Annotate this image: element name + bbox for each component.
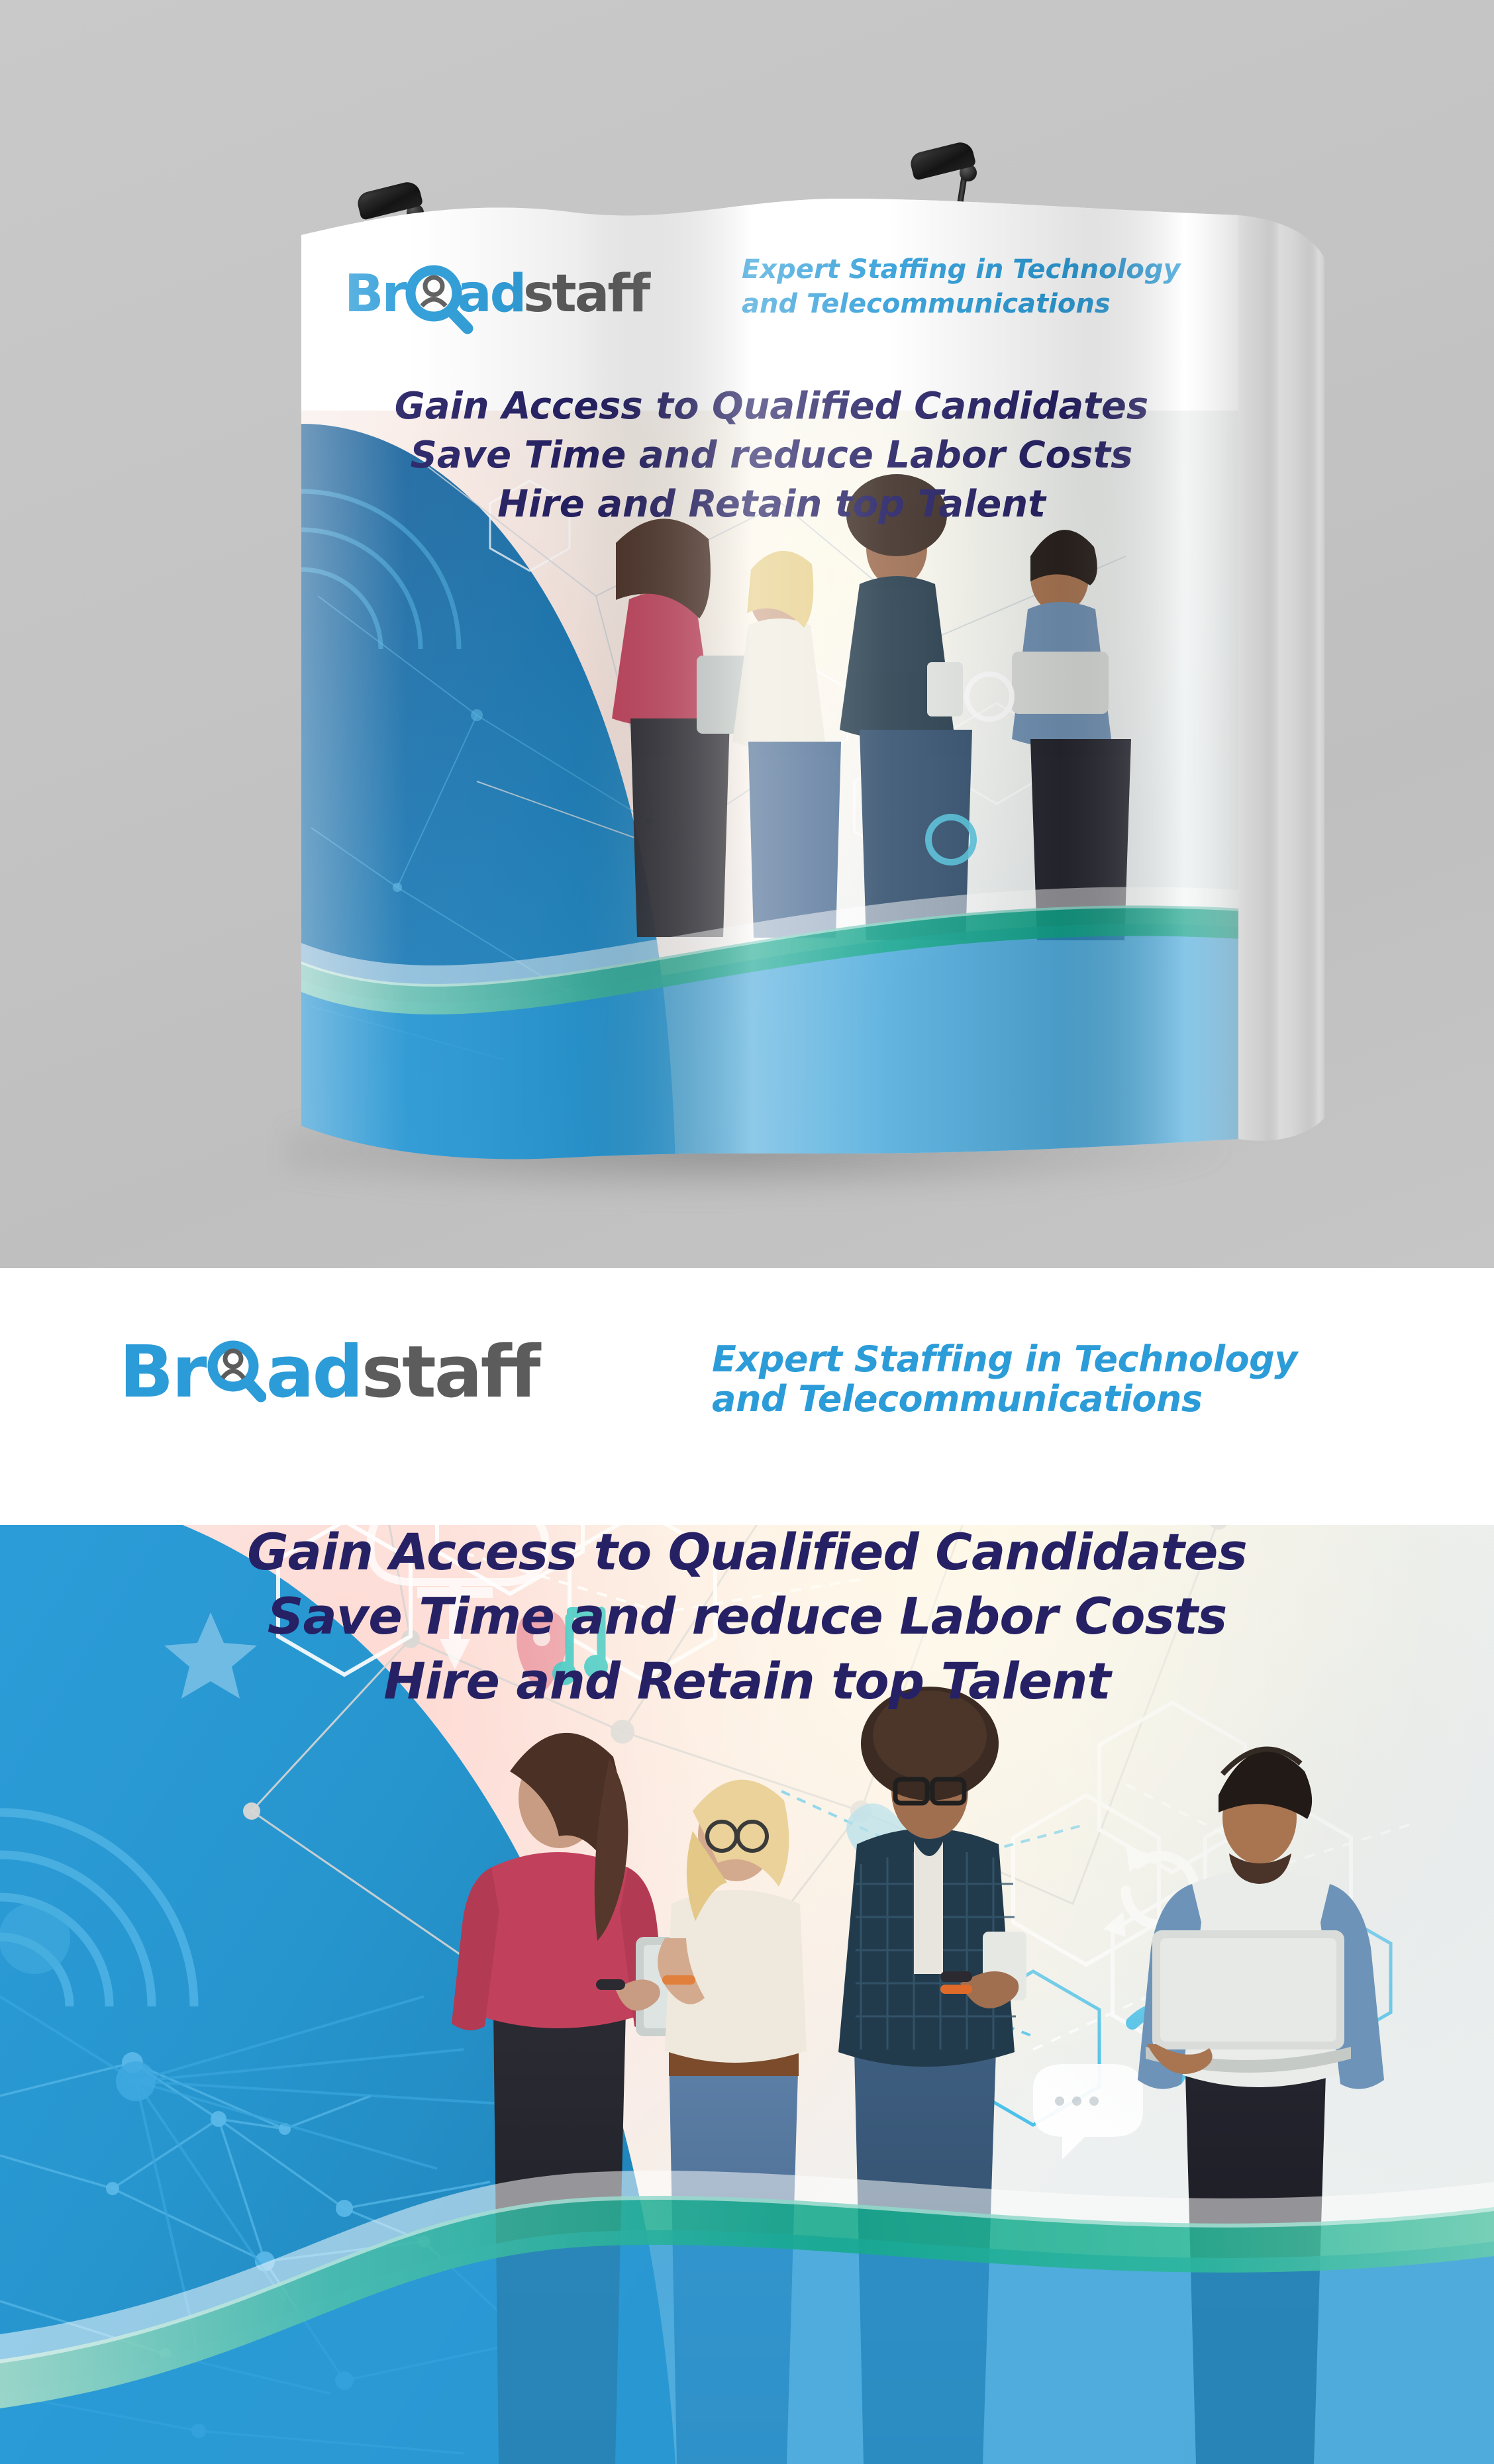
poster-page: Br ad staff Expert Staffing in Technolog…	[0, 0, 1494, 2464]
booth-mockup-scene: Br ad staff Expert Staffing in Technolog…	[0, 0, 1494, 1268]
booth-panel: Br ad staff Expert Staffing in Technolog…	[0, 0, 1494, 1268]
bottom-wave-band	[0, 1268, 1494, 2464]
flat-artwork: Br ad staff Expert Staffing in Technolog…	[0, 1268, 1494, 2464]
